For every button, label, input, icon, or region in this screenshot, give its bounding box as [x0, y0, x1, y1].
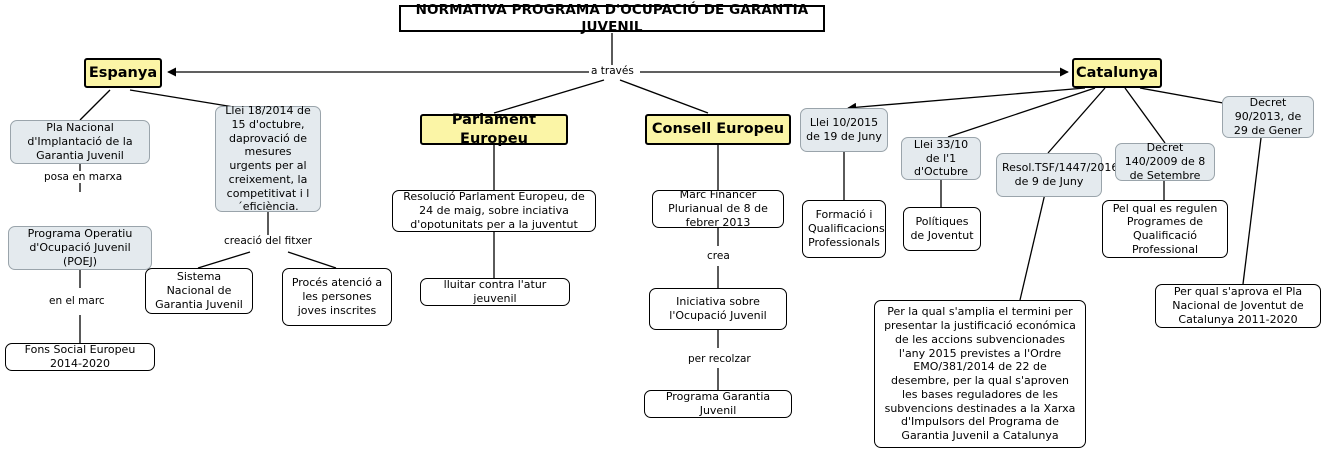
node-per-la-qual-amplia-termini[interactable]: Per la qual s'amplia el termini per pres…: [874, 300, 1086, 448]
edge-label-a-traves: a través: [589, 65, 636, 77]
node-iniciativa-ocupacio-juvenil[interactable]: Iniciativa sobre l'Ocupació Juvenil: [649, 288, 787, 330]
concept-map-canvas: NORMATIVA PROGRAMA D'OCUPACIÓ DE GARANTI…: [0, 0, 1326, 453]
node-parlament-europeu[interactable]: Parlament Europeu: [420, 114, 568, 145]
node-decret-140-2009[interactable]: Decret 140/2009 de 8 de Setembre: [1115, 143, 1215, 181]
node-lluitar-contra-atur[interactable]: lluitar contra l'atur jeuvenil: [420, 278, 570, 306]
node-pla-nacional-implantacio[interactable]: Pla Nacional d'Implantació de la Garanti…: [10, 120, 150, 164]
node-title: NORMATIVA PROGRAMA D'OCUPACIÓ DE GARANTI…: [399, 5, 825, 32]
edge-label-crea: crea: [705, 250, 732, 262]
node-fons-social-europeu[interactable]: Fons Social Europeu 2014-2020: [5, 343, 155, 371]
node-marc-financer-plurianual[interactable]: Marc Financer Plurianual de 8 de febrer …: [652, 190, 784, 228]
edge-label-per-recolzar: per recolzar: [686, 353, 753, 365]
node-pel-qual-es-regulen[interactable]: Pel qual es regulen Programes de Qualifi…: [1102, 200, 1228, 258]
node-sistema-nacional-garantia[interactable]: Sistema Nacional de Garantia Juvenil: [145, 268, 253, 314]
edge-label-posa-en-marxa: posa en marxa: [42, 171, 124, 183]
node-llei-33-10[interactable]: Llei 33/10 de l'1 d'Octubre: [901, 137, 981, 180]
node-decret-90-2013[interactable]: Decret 90/2013, de 29 de Gener: [1222, 96, 1314, 138]
node-proces-atencio[interactable]: Procés atenció a les persones joves insc…: [282, 268, 392, 326]
node-formacio-qualificacions[interactable]: Formació i Qualificacions Professionals: [802, 200, 886, 258]
node-programa-operatiu-poej[interactable]: Programa Operatiu d'Ocupació Juvenil (PO…: [8, 226, 152, 270]
edge-label-creacio-del-fitxer: creació del fitxer: [222, 235, 314, 247]
node-consell-europeu[interactable]: Consell Europeu: [645, 114, 791, 145]
node-espanya[interactable]: Espanya: [84, 58, 162, 88]
edge-label-en-el-marc: en el marc: [47, 295, 107, 307]
node-llei-10-2015[interactable]: Llei 10/2015 de 19 de Juny: [800, 108, 888, 152]
node-politiques-joventut[interactable]: Polítiques de Joventut: [903, 207, 981, 251]
node-programa-garantia-juvenil[interactable]: Programa Garantia Juvenil: [644, 390, 792, 418]
node-resol-tsf-1447-2016[interactable]: Resol.TSF/1447/2016 de 9 de Juny: [996, 153, 1102, 197]
node-catalunya[interactable]: Catalunya: [1072, 58, 1162, 88]
node-resolucio-parlament-europeu[interactable]: Resolució Parlament Europeu, de 24 de ma…: [392, 190, 596, 232]
node-per-qual-aprova-pla-nacional[interactable]: Per qual s'aprova el Pla Nacional de Jov…: [1155, 284, 1321, 328]
node-llei-18-2014[interactable]: Llei 18/2014 de 15 d'octubre, daprovació…: [215, 106, 321, 212]
